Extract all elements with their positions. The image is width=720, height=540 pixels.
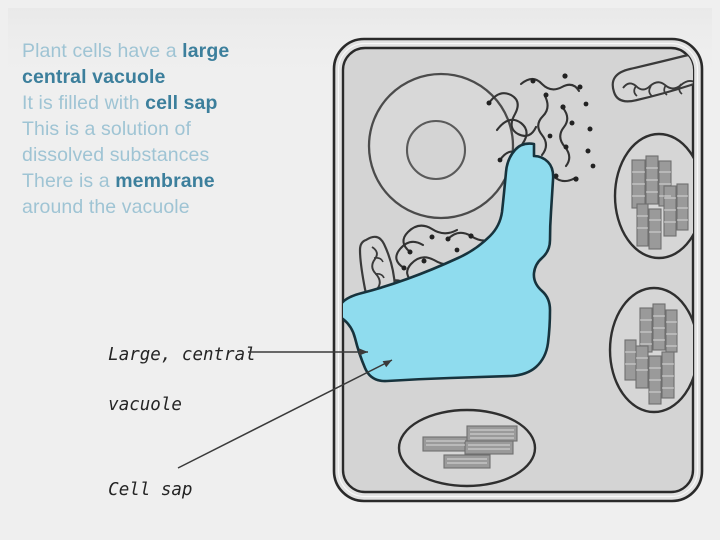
explainer-emphasis: cell sap <box>145 92 217 114</box>
explainer-emphasis: central vacuole <box>22 66 165 88</box>
explainer-line-2: central vacuole <box>22 64 322 90</box>
explainer-line-7: around the vacuole <box>22 194 322 220</box>
explainer-text: Plant cells have a <box>22 40 182 62</box>
explainer-text: around the vacuole <box>22 196 190 218</box>
explainer-emphasis: membrane <box>115 170 214 192</box>
annotation-line-1: Cell sap <box>108 480 192 500</box>
explainer-text-block: Plant cells have a largecentral vacuoleI… <box>22 38 322 220</box>
explainer-text: dissolved substances <box>22 144 209 166</box>
explainer-text: This is a solution of <box>22 118 191 140</box>
annotation-cell-sap: Cell sap <box>66 453 192 528</box>
annotation-line-2: vacuole <box>108 395 182 415</box>
explainer-emphasis: large <box>182 40 229 62</box>
explainer-line-5: dissolved substances <box>22 142 322 168</box>
explainer-line-6: There is a membrane <box>22 168 322 194</box>
explainer-text: There is a <box>22 170 115 192</box>
explainer-line-4: This is a solution of <box>22 116 322 142</box>
annotation-large-central-vacuole: Large, central vacuole <box>66 318 256 443</box>
annotation-line-1: Large, central <box>108 345 256 365</box>
explainer-text: It is filled with <box>22 92 145 114</box>
explainer-line-3: It is filled with cell sap <box>22 90 322 116</box>
diagram-canvas: Plant cells have a largecentral vacuoleI… <box>0 0 720 540</box>
explainer-line-1: Plant cells have a large <box>22 38 322 64</box>
